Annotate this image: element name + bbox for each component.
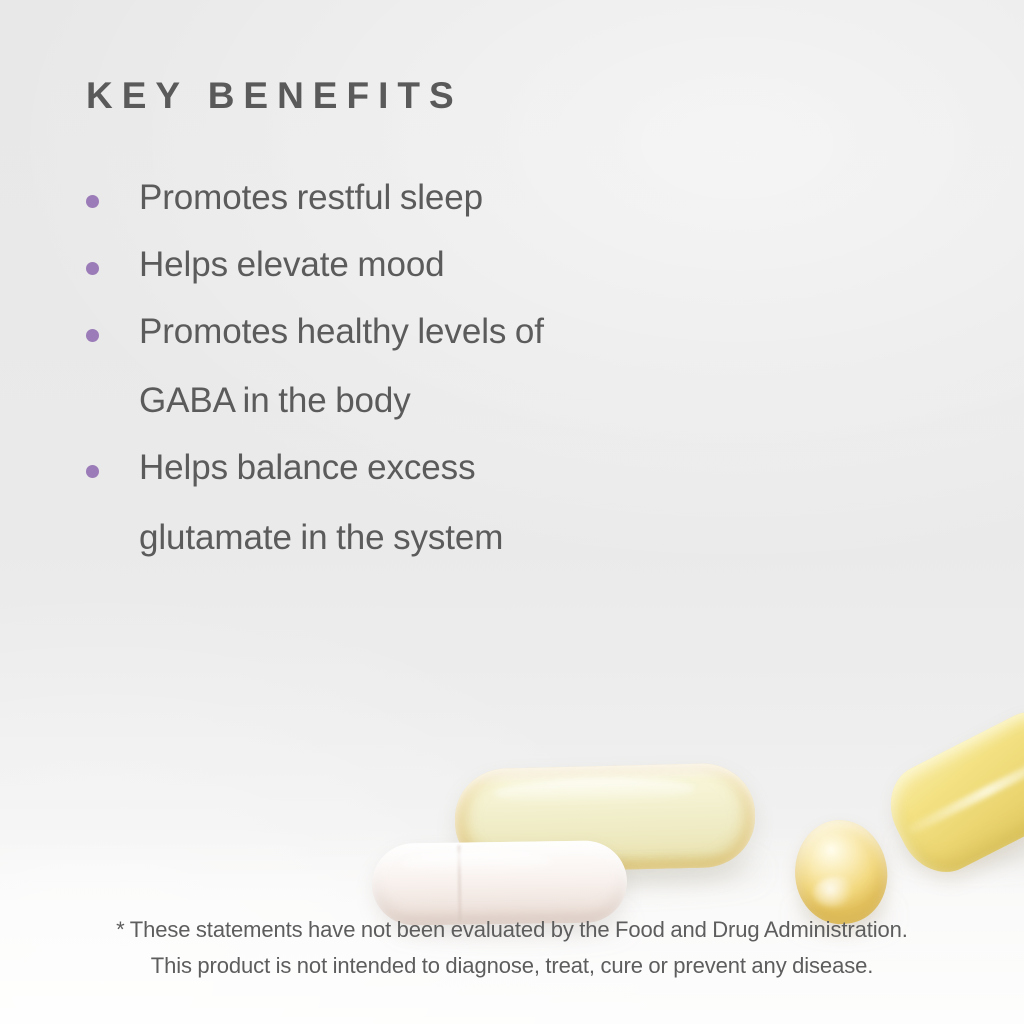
list-item: Helps elevate mood (86, 243, 726, 288)
bullet-dot-icon (86, 465, 99, 478)
benefit-line-secondary: GABA in the body (139, 379, 726, 424)
page-title: KEY BENEFITS (86, 76, 463, 117)
benefit-line-secondary: glutamate in the system (139, 516, 726, 561)
list-item: Promotes healthy levels of GABA in the b… (86, 310, 726, 425)
pill-shadow (470, 856, 760, 886)
pill-shadow (900, 836, 1024, 862)
list-item: Promotes restful sleep (86, 176, 726, 221)
benefit-line-primary: Promotes restful sleep (139, 178, 483, 217)
large-softgel-capsule-image (454, 762, 756, 873)
bullet-dot-icon (86, 195, 99, 208)
yellow-tablet-image (875, 698, 1024, 887)
benefit-line-primary: Promotes healthy levels of (139, 312, 544, 351)
benefits-list: Promotes restful sleep Helps elevate moo… (86, 176, 726, 583)
benefit-line-primary: Helps elevate mood (139, 245, 445, 284)
benefit-text: Helps elevate mood (139, 243, 726, 288)
bullet-dot-icon (86, 262, 99, 275)
disclaimer-line-2: This product is not intended to diagnose… (0, 948, 1024, 984)
benefit-text: Promotes healthy levels of GABA in the b… (139, 310, 726, 425)
disclaimer-line-1: * These statements have not been evaluat… (0, 912, 1024, 948)
list-item: Helps balance excess glutamate in the sy… (86, 446, 726, 561)
bullet-dot-icon (86, 329, 99, 342)
fda-disclaimer: * These statements have not been evaluat… (0, 912, 1024, 983)
product-benefits-panel: KEY BENEFITS Promotes restful sleep Help… (0, 0, 1024, 1024)
benefit-line-primary: Helps balance excess (139, 448, 475, 487)
benefit-text: Promotes restful sleep (139, 176, 726, 221)
benefit-text: Helps balance excess glutamate in the sy… (139, 446, 726, 561)
